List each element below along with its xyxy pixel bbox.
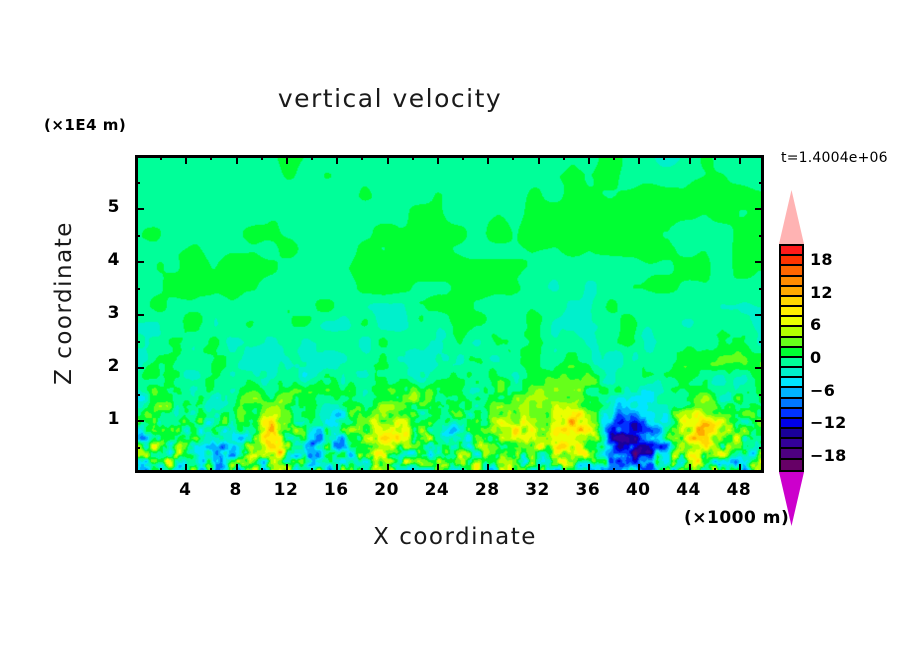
x-tick-mark xyxy=(185,155,187,164)
x-tick-mark xyxy=(387,464,389,473)
y-tick-label: 1 xyxy=(96,409,120,429)
y-tick-mark xyxy=(759,447,764,449)
y-tick-mark xyxy=(135,182,140,184)
x-tick-mark xyxy=(663,155,665,160)
x-tick-mark xyxy=(361,468,363,473)
y-tick-mark xyxy=(135,341,140,343)
x-tick-mark xyxy=(462,468,464,473)
x-tick-mark xyxy=(714,468,716,473)
colorbar-band xyxy=(781,266,802,276)
x-tick-mark xyxy=(739,464,741,473)
x-tick-mark xyxy=(663,468,665,473)
colorbar-band xyxy=(781,429,802,439)
colorbar-band xyxy=(781,348,802,358)
x-axis-units: (×1000 m) xyxy=(684,508,789,528)
y-axis-title: Z coordinate xyxy=(51,203,77,403)
x-tick-label: 48 xyxy=(719,480,759,500)
x-tick-mark xyxy=(412,155,414,160)
vertical-velocity-field xyxy=(138,158,761,470)
x-tick-mark xyxy=(462,155,464,160)
y-tick-label: 2 xyxy=(96,356,120,376)
y-tick-mark xyxy=(755,420,764,422)
x-tick-mark xyxy=(739,155,741,164)
x-tick-mark xyxy=(638,464,640,473)
x-tick-mark xyxy=(261,155,263,160)
y-tick-label: 4 xyxy=(96,250,120,270)
y-tick-mark xyxy=(135,394,140,396)
colorbar-over-arrow xyxy=(779,190,804,244)
y-tick-mark xyxy=(135,420,144,422)
colorbar-tick-label: 12 xyxy=(810,283,833,302)
x-tick-mark xyxy=(261,468,263,473)
y-tick-label: 3 xyxy=(96,303,120,323)
y-tick-mark xyxy=(135,261,144,263)
colorbar-band xyxy=(781,327,802,337)
x-tick-mark xyxy=(487,464,489,473)
x-tick-mark xyxy=(563,468,565,473)
x-tick-mark xyxy=(412,468,414,473)
x-tick-mark xyxy=(311,155,313,160)
x-tick-mark xyxy=(336,155,338,164)
x-tick-label: 20 xyxy=(367,480,407,500)
y-tick-mark xyxy=(759,182,764,184)
x-tick-mark xyxy=(638,155,640,164)
y-tick-mark xyxy=(755,208,764,210)
y-tick-mark xyxy=(135,367,144,369)
x-tick-mark xyxy=(236,155,238,164)
contour-plot-area xyxy=(135,155,764,473)
x-tick-mark xyxy=(538,464,540,473)
colorbar xyxy=(779,244,804,472)
x-tick-mark xyxy=(689,155,691,164)
colorbar-tick-label: −12 xyxy=(810,413,847,432)
y-tick-label: 5 xyxy=(96,197,120,217)
colorbar-band xyxy=(781,399,802,409)
y-tick-mark xyxy=(759,235,764,237)
colorbar-band xyxy=(781,409,802,419)
colorbar-band xyxy=(781,439,802,449)
x-tick-mark xyxy=(487,155,489,164)
y-tick-mark xyxy=(135,314,144,316)
x-tick-label: 8 xyxy=(216,480,256,500)
x-tick-mark xyxy=(286,464,288,473)
colorbar-band xyxy=(781,460,802,470)
x-tick-label: 40 xyxy=(618,480,658,500)
y-tick-mark xyxy=(135,447,140,449)
x-tick-label: 16 xyxy=(316,480,356,500)
x-tick-mark xyxy=(689,464,691,473)
y-axis-units: (×1E4 m) xyxy=(44,116,126,134)
x-tick-mark xyxy=(613,155,615,160)
colorbar-band xyxy=(781,307,802,317)
colorbar-tick-label: 6 xyxy=(810,315,821,334)
colorbar-band xyxy=(781,297,802,307)
x-tick-mark xyxy=(185,464,187,473)
x-tick-mark xyxy=(437,464,439,473)
colorbar-tick-label: 0 xyxy=(810,348,821,367)
colorbar-band xyxy=(781,368,802,378)
x-tick-mark xyxy=(210,468,212,473)
colorbar-tick-label: −6 xyxy=(810,381,835,400)
x-tick-mark xyxy=(236,464,238,473)
x-tick-mark xyxy=(588,464,590,473)
x-tick-label: 36 xyxy=(568,480,608,500)
time-annotation: t=1.4004e+06 xyxy=(781,150,888,166)
x-tick-label: 44 xyxy=(669,480,709,500)
x-tick-label: 24 xyxy=(417,480,457,500)
x-tick-mark xyxy=(160,155,162,160)
x-tick-mark xyxy=(336,464,338,473)
x-tick-mark xyxy=(512,155,514,160)
colorbar-band xyxy=(781,419,802,429)
colorbar-band xyxy=(781,277,802,287)
colorbar-band xyxy=(781,287,802,297)
x-tick-mark xyxy=(286,155,288,164)
x-tick-mark xyxy=(613,468,615,473)
colorbar-tick-label: −18 xyxy=(810,446,847,465)
x-tick-mark xyxy=(361,155,363,160)
y-tick-mark xyxy=(759,341,764,343)
y-tick-mark xyxy=(755,367,764,369)
x-tick-label: 32 xyxy=(518,480,558,500)
colorbar-band xyxy=(781,449,802,459)
x-tick-label: 12 xyxy=(266,480,306,500)
y-tick-mark xyxy=(755,261,764,263)
x-tick-mark xyxy=(311,468,313,473)
colorbar-band xyxy=(781,317,802,327)
x-tick-mark xyxy=(588,155,590,164)
colorbar-band xyxy=(781,378,802,388)
page-title: vertical velocity xyxy=(0,84,780,113)
colorbar-band xyxy=(781,246,802,256)
x-tick-mark xyxy=(210,155,212,160)
x-tick-mark xyxy=(538,155,540,164)
x-tick-label: 28 xyxy=(467,480,507,500)
x-tick-mark xyxy=(437,155,439,164)
colorbar-band xyxy=(781,256,802,266)
y-tick-mark xyxy=(135,288,140,290)
y-tick-mark xyxy=(755,314,764,316)
x-tick-mark xyxy=(563,155,565,160)
x-axis-title: X coordinate xyxy=(240,524,670,550)
y-tick-mark xyxy=(759,288,764,290)
colorbar-tick-label: 18 xyxy=(810,250,833,269)
colorbar-band xyxy=(781,358,802,368)
x-tick-mark xyxy=(387,155,389,164)
x-tick-mark xyxy=(512,468,514,473)
y-tick-mark xyxy=(759,394,764,396)
y-tick-mark xyxy=(135,208,144,210)
x-tick-label: 4 xyxy=(165,480,205,500)
colorbar-band xyxy=(781,388,802,398)
colorbar-band xyxy=(781,338,802,348)
y-tick-mark xyxy=(135,235,140,237)
x-tick-mark xyxy=(160,468,162,473)
x-tick-mark xyxy=(714,155,716,160)
